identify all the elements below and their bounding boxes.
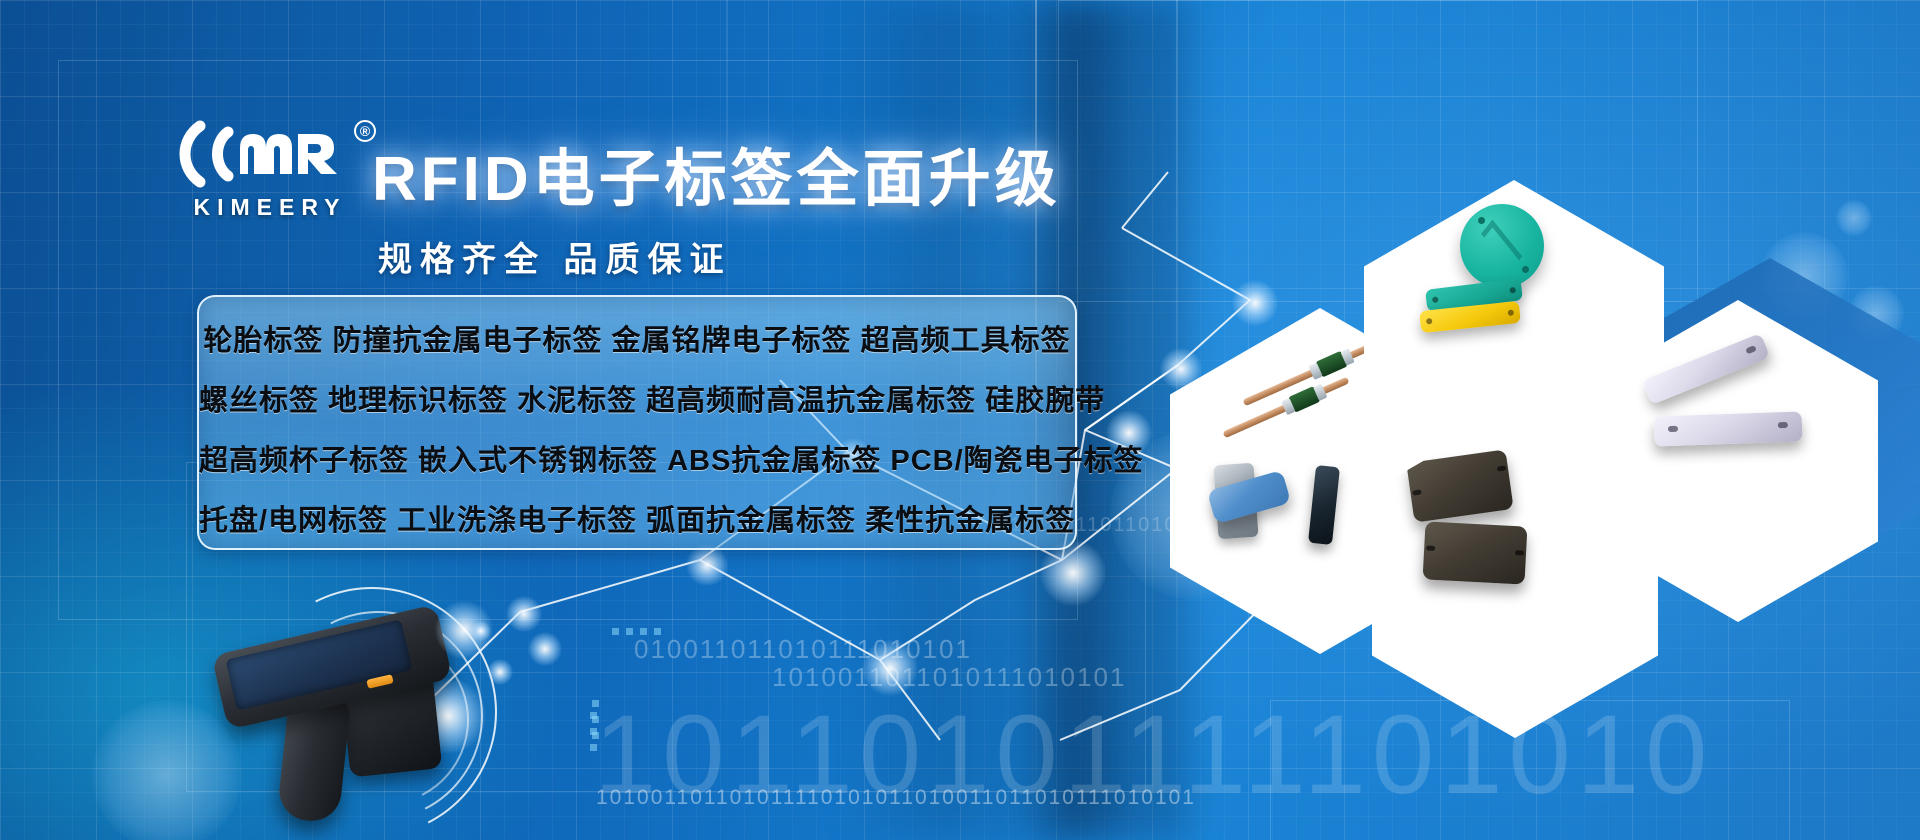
brand-logo: ® KIMEERY bbox=[170, 118, 370, 228]
logo-mark-icon: ® bbox=[170, 118, 370, 190]
handheld-rfid-reader: 手持式RFID读写器 bbox=[195, 605, 525, 840]
product-row: 超高频杯子标签 嵌入式不锈钢标签 ABS抗金属标签 PCB/陶瓷电子标签 bbox=[199, 431, 1075, 491]
binary-string: 010011011010111010101 bbox=[634, 634, 972, 665]
page-title: RFID电子标签全面升级 bbox=[372, 128, 1061, 218]
black-stick-tag bbox=[1308, 465, 1340, 545]
product-row: 托盘/电网标签 工业洗涤电子标签 弧面抗金属标签 柔性抗金属标签 bbox=[199, 491, 1075, 551]
device-caption: 手持式RFID读写器 bbox=[195, 605, 196, 606]
product-row: 螺丝标签 地理标识标签 水泥标签 超高频耐高温抗金属标签 硅胶腕带 bbox=[199, 371, 1075, 431]
dark-anti-metal-tag bbox=[1423, 521, 1528, 584]
kimeery-wordmark-icon bbox=[170, 118, 360, 190]
page-subtitle: 规格齐全 品质保证 bbox=[378, 232, 731, 281]
network-node bbox=[528, 632, 562, 666]
product-row: 轮胎标签 防撞抗金属电子标签 金属铭牌电子标签 超高频工具标签 bbox=[199, 311, 1075, 371]
product-list-panel: 轮胎标签 防撞抗金属电子标签 金属铭牌电子标签 超高频工具标签 螺丝标签 地理标… bbox=[197, 295, 1077, 550]
teal-disc-tag bbox=[1460, 204, 1544, 288]
binary-string: 1010011011010111010101 bbox=[772, 662, 1126, 693]
signal-node bbox=[471, 621, 491, 641]
brand-name: KIMEERY bbox=[170, 194, 370, 221]
rfid-promo-banner: 010011011010111010101 101001101101011101… bbox=[0, 0, 1920, 840]
white-bar-tag bbox=[1654, 411, 1803, 446]
signal-node bbox=[487, 659, 513, 685]
